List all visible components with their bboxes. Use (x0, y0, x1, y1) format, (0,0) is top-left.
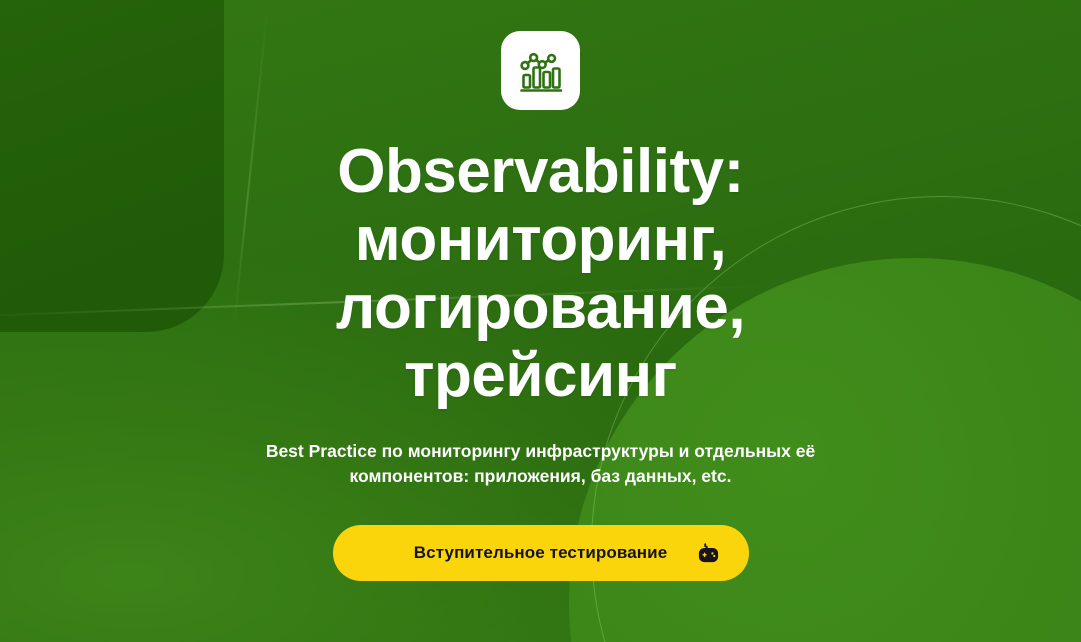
entry-test-button[interactable]: Вступительное тестирование (333, 525, 749, 581)
bar-chart-analytics-icon (516, 46, 566, 96)
cta-container: Вступительное тестирование (333, 525, 749, 581)
subtitle-line-2: компонентов: приложения, баз данных, etc… (350, 466, 732, 486)
subtitle-line-1: Best Practice по мониторингу инфраструкт… (266, 441, 815, 461)
gamepad-icon (697, 541, 721, 565)
page-title: Observability: мониторинг, логирование, … (221, 138, 861, 410)
hero-section: Observability: мониторинг, логирование, … (0, 0, 1081, 642)
title-line-4: трейсинг (221, 342, 861, 410)
entry-test-button-label: Вступительное тестирование (414, 543, 668, 563)
logo-card (501, 31, 580, 110)
hero-content: Observability: мониторинг, логирование, … (0, 0, 1081, 642)
title-line-1: Observability: (221, 138, 861, 206)
title-line-2: мониторинг, (221, 206, 861, 274)
title-line-3: логирование, (221, 274, 861, 342)
page-subtitle: Best Practice по мониторингу инфраструкт… (221, 439, 861, 489)
